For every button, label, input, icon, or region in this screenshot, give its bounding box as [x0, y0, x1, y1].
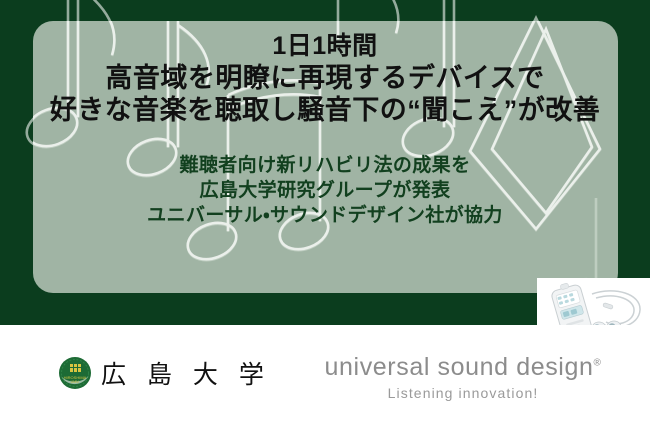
subheadline-line-3: ユニバーサル・サウンドデザイン社が協力: [147, 203, 503, 228]
universal-sound-design-logo: universal sound design® Listening innova…: [313, 353, 613, 401]
poster: 1日1時間 高音域を明瞭に再現するデバイスで 好きな音楽を聴取し騒音下の“聞こえ…: [0, 0, 650, 434]
subheadline-line-1: 難聴者向け新リハビリ法の成果を: [179, 153, 470, 178]
poster-text-block: 1日1時間 高音域を明瞭に再現するデバイスで 好きな音楽を聴取し騒音下の“聞こえ…: [0, 0, 650, 325]
hero-banner: 1日1時間 高音域を明瞭に再現するデバイスで 好きな音楽を聴取し騒音下の“聞こえ…: [0, 0, 650, 325]
headline-line-2: 高音域を明瞭に再現するデバイスで: [105, 63, 544, 94]
usd-name-text: universal sound design: [325, 353, 594, 381]
hiroshima-university-logo: HIROSHIMA UNIV. 広 島 大 学: [58, 355, 271, 391]
usd-tagline: Listening innovation!: [313, 385, 613, 401]
usd-wordmark: universal sound design®: [313, 353, 613, 382]
hiroshima-university-seal-icon: HIROSHIMA UNIV.: [58, 356, 92, 390]
footer-logo-bar: HIROSHIMA UNIV. 広 島 大 学 universal sound …: [0, 325, 650, 434]
headline-line-1: 1日1時間: [272, 32, 377, 61]
registered-trademark-icon: ®: [593, 358, 601, 369]
svg-text:UNIV.: UNIV.: [71, 380, 80, 384]
subheadline-line-2: 広島大学研究グループが発表: [199, 178, 450, 203]
hiroshima-university-name: 広 島 大 学: [101, 355, 271, 391]
headline-line-3: 好きな音楽を聴取し騒音下の“聞こえ”が改善: [50, 95, 601, 126]
